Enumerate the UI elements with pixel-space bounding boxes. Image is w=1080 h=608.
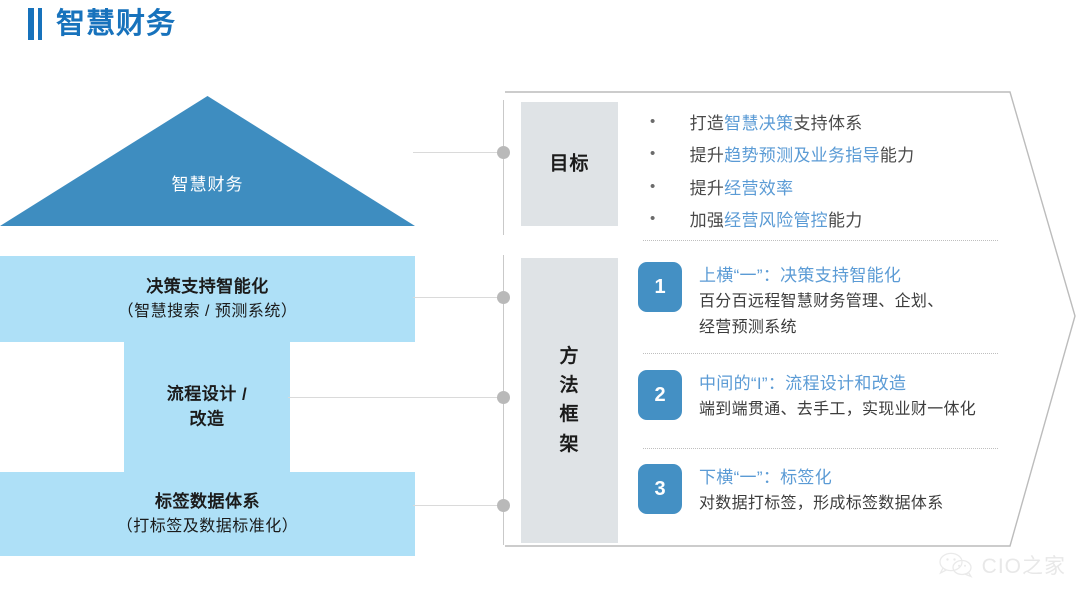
layer-decision-support-sub: （智慧搜索 / 预测系统） xyxy=(0,300,415,323)
connector-line-layer2 xyxy=(288,397,505,398)
divider-goal-method xyxy=(643,240,998,241)
method-item-1-number: 1 xyxy=(638,262,682,312)
layer-process-design: 流程设计 / 改造 xyxy=(124,342,290,472)
goal-label-panel: 目标 xyxy=(521,102,618,226)
method-label-text: 方法框架 xyxy=(521,342,618,460)
page-title-text: 智慧财务 xyxy=(56,10,176,39)
method-item-2-number: 2 xyxy=(638,370,682,420)
divider-method-2-3 xyxy=(643,448,998,449)
bullet-dot-icon: • xyxy=(650,108,656,137)
roof-label: 智慧财务 xyxy=(0,170,415,195)
watermark: CIO之家 xyxy=(938,550,1066,580)
method-item-1-heading: 上横“一”：决策支持智能化 xyxy=(699,263,944,289)
connector-vline-goal xyxy=(503,100,504,235)
page-title: 智慧财务 xyxy=(28,8,176,40)
layer-process-design-sub: 改造 xyxy=(124,407,290,432)
method-item-1-body-line-1: 百分百远程智慧财务管理、企划、 xyxy=(699,289,944,315)
connector-line-roof xyxy=(413,152,505,153)
method-item-3: 3 下横“一”：标签化 对数据打标签，形成标签数据体系 xyxy=(638,464,944,517)
layer-decision-support: 决策支持智能化 （智慧搜索 / 预测系统） xyxy=(0,256,415,342)
bullet-dot-icon: • xyxy=(650,173,656,202)
connector-line-layer1 xyxy=(413,297,505,298)
layer-tag-data-system-sub: （打标签及数据标准化） xyxy=(0,515,415,538)
goal-bullet-item: • 提升趋势预测及业务指导能力 xyxy=(650,140,1030,172)
goal-bullet-text: 提升经营效率 xyxy=(690,173,1030,205)
layer-tag-data-system: 标签数据体系 （打标签及数据标准化） xyxy=(0,472,415,556)
divider-method-1-2 xyxy=(643,353,998,354)
title-accent-bars-icon xyxy=(28,8,42,40)
layer-tag-data-system-heading: 标签数据体系 xyxy=(0,490,415,515)
bullet-dot-icon: • xyxy=(650,140,656,169)
goal-bullet-item: • 提升经营效率 xyxy=(650,173,1030,205)
goal-bullet-item: • 打造智慧决策支持体系 xyxy=(650,108,1030,140)
layer-process-design-heading: 流程设计 / xyxy=(124,382,290,407)
goal-bullet-list: • 打造智慧决策支持体系 • 提升趋势预测及业务指导能力 • 提升经营效率 • … xyxy=(650,108,1030,237)
method-item-3-number: 3 xyxy=(638,464,682,514)
method-item-3-body-line-1: 对数据打标签，形成标签数据体系 xyxy=(699,491,944,517)
method-item-2-body-line-1: 端到端贯通、去手工，实现业财一体化 xyxy=(699,397,976,423)
goal-bullet-text: 加强经营风险管控能力 xyxy=(690,205,1030,237)
bullet-dot-icon: • xyxy=(650,205,656,234)
goal-label-text: 目标 xyxy=(521,149,618,178)
method-item-1-body-line-2: 经营预测系统 xyxy=(699,315,944,341)
connector-dot-layer1 xyxy=(497,291,510,304)
connector-dot-layer2 xyxy=(497,391,510,404)
connector-dot-roof xyxy=(497,146,510,159)
watermark-text: CIO之家 xyxy=(982,550,1066,580)
method-item-3-heading: 下横“一”：标签化 xyxy=(699,465,944,491)
method-item-1: 1 上横“一”：决策支持智能化 百分百远程智慧财务管理、企划、 经营预测系统 xyxy=(638,262,944,341)
goal-bullet-item: • 加强经营风险管控能力 xyxy=(650,205,1030,237)
goal-bullet-text: 打造智慧决策支持体系 xyxy=(690,108,1030,140)
pyramid-roof: 智慧财务 xyxy=(0,96,415,228)
slide-canvas: 智慧财务 智慧财务 决策支持智能化 （智慧搜索 / 预测系统） 流程设计 / 改… xyxy=(0,0,1080,608)
pyramid-diagram: 智慧财务 决策支持智能化 （智慧搜索 / 预测系统） 流程设计 / 改造 标签数… xyxy=(0,88,470,548)
connector-dot-layer3 xyxy=(497,499,510,512)
connector-line-layer3 xyxy=(413,505,505,506)
goal-bullet-text: 提升趋势预测及业务指导能力 xyxy=(690,140,1030,172)
wechat-icon xyxy=(938,552,974,578)
roof-triangle-icon xyxy=(0,96,415,228)
method-item-2-heading: 中间的“I”：流程设计和改造 xyxy=(699,371,976,397)
layer-decision-support-heading: 决策支持智能化 xyxy=(0,275,415,300)
method-item-2: 2 中间的“I”：流程设计和改造 端到端贯通、去手工，实现业财一体化 xyxy=(638,370,976,423)
method-label-panel: 方法框架 xyxy=(521,258,618,543)
